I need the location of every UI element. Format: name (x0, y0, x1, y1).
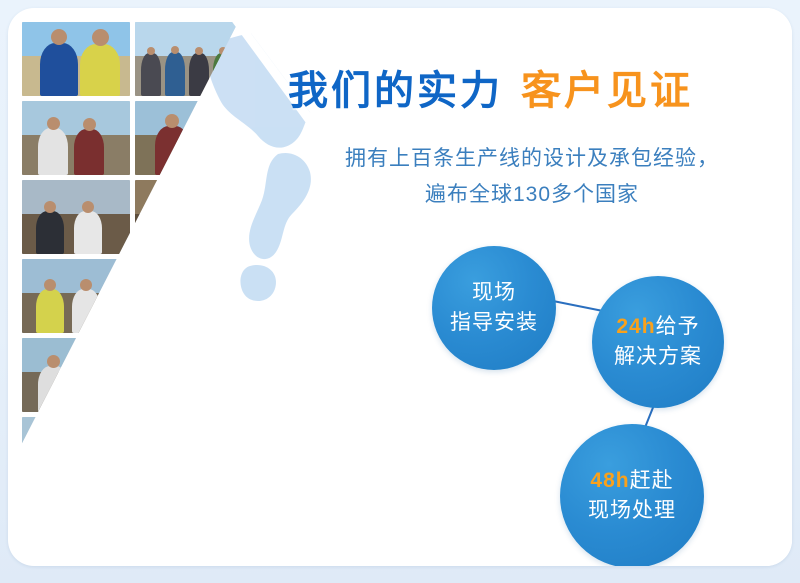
photo-person-head (85, 436, 98, 449)
photo-image (135, 417, 243, 491)
photo-sky (135, 417, 243, 451)
photo-person (375, 368, 403, 412)
photo-person (377, 445, 407, 491)
badge-2-suffix: 给予 (656, 315, 700, 338)
photo-person (80, 44, 120, 96)
photo-person (38, 447, 68, 491)
photo-person-head (51, 29, 67, 45)
photo-person-head (263, 519, 273, 529)
photo-person (415, 526, 445, 566)
photo-image (361, 496, 469, 566)
photo-ground (361, 372, 469, 412)
badge-2-number: 24h (616, 315, 655, 338)
badge-1-line-2: 指导安装 (450, 308, 538, 338)
photo-person-head (383, 358, 395, 370)
badge-3-line-1: 48h赶赴 (588, 466, 676, 496)
photo-image (22, 259, 130, 333)
badge-24h-solution-text: 24h给予 解决方案 (614, 312, 702, 372)
photo-sky (361, 496, 469, 530)
photo-person-head (83, 118, 96, 131)
photo-person-head (47, 117, 60, 130)
photo-person-head (44, 201, 56, 213)
badge-3-line-2: 现场处理 (588, 496, 676, 526)
headline-blue: 我们的实力 (288, 69, 503, 113)
collage-photo (248, 338, 356, 412)
collage-photo (248, 496, 356, 566)
photo-sky (22, 101, 130, 135)
photo-person (526, 447, 554, 491)
photo-person (482, 369, 506, 412)
photo-person (149, 368, 177, 412)
photo-person (413, 368, 441, 412)
photo-person-head (496, 516, 508, 528)
photo-image (248, 417, 356, 491)
photo-person (205, 526, 231, 566)
photo-person (74, 211, 102, 254)
badge-3-number: 48h (590, 469, 629, 492)
photo-person (415, 447, 445, 491)
photo-person (256, 448, 280, 491)
photo-person-head (181, 515, 192, 526)
photo-person (512, 366, 538, 412)
badge-1-line-1: 现场 (450, 278, 538, 308)
photo-person-head (157, 358, 169, 370)
photo-person-head (85, 357, 98, 370)
photo-person-head (82, 201, 94, 213)
photo-person-head (157, 437, 169, 449)
photo-sky (248, 496, 356, 530)
photo-person (256, 527, 280, 566)
photo-person (488, 447, 516, 491)
photo-person (318, 527, 344, 566)
photo-person (322, 371, 346, 412)
photo-ground (248, 372, 356, 412)
photo-person (260, 369, 286, 412)
photo-person-head (47, 436, 60, 449)
photo-image (361, 417, 469, 491)
photo-ground (248, 451, 356, 491)
badge-48h-dispatch[interactable]: 48h赶赴 现场处理 (560, 424, 704, 566)
badge-2-line-2: 解决方案 (614, 342, 702, 372)
photo-person-head (89, 516, 102, 529)
photo-person-head (195, 358, 207, 370)
photo-ground (248, 530, 356, 566)
photo-image (135, 496, 243, 566)
headline: 我们的实力客户见证 (288, 58, 758, 116)
photo-person-head (150, 519, 160, 529)
collage-photo (22, 417, 130, 491)
photo-sky (248, 417, 356, 451)
photo-ground (135, 451, 243, 491)
photo-person-head (386, 434, 399, 447)
photo-person (36, 211, 64, 254)
photo-person-head (263, 440, 273, 450)
photo-image (22, 180, 130, 254)
photo-ground (361, 451, 469, 491)
photo-ground (135, 530, 243, 566)
collage-photo (22, 496, 130, 566)
photo-sky (474, 417, 582, 451)
subtitle-line-2: 遍布全球130多个国家 (308, 177, 756, 213)
photo-person-head (386, 515, 399, 528)
photo-person (141, 53, 161, 96)
subtitle: 拥有上百条生产线的设计及承包经验， 遍布全球130多个国家 (308, 141, 756, 213)
badge-3-suffix: 赶赴 (630, 469, 674, 492)
photo-person-head (195, 437, 207, 449)
photo-person (526, 526, 554, 566)
photo-sky (248, 338, 356, 372)
photo-person (80, 527, 110, 566)
headline-orange: 客户见证 (521, 69, 693, 113)
photo-person-head (424, 436, 437, 449)
photo-image (135, 338, 243, 412)
collage-photo (248, 417, 356, 491)
photo-image (22, 496, 130, 566)
photo-sky (361, 417, 469, 451)
photo-image (22, 417, 130, 491)
photo-person (40, 43, 78, 96)
photo-ground (474, 372, 582, 412)
photo-person-head (47, 355, 60, 368)
collage-photo (22, 22, 130, 96)
photo-person (173, 524, 199, 566)
photo-ground (135, 372, 243, 412)
photo-image (22, 22, 130, 96)
photo-ground (22, 530, 130, 566)
badge-24h-solution[interactable]: 24h给予 解决方案 (592, 276, 724, 408)
photo-ground (361, 530, 469, 566)
photo-person (72, 289, 100, 333)
photo-person (187, 447, 215, 491)
photo-sky (22, 338, 130, 372)
photo-person-head (44, 279, 56, 291)
photo-person-head (171, 46, 179, 54)
badge-48h-dispatch-text: 48h赶赴 现场处理 (588, 466, 676, 526)
photo-person (286, 526, 312, 566)
photo-person (143, 527, 167, 566)
photo-person (38, 366, 68, 412)
photo-person-head (294, 438, 305, 449)
photo-sky (135, 496, 243, 530)
photo-person (187, 368, 215, 412)
photo-person (165, 52, 185, 96)
photo-person-head (80, 279, 92, 291)
photo-person-head (421, 358, 433, 370)
photo-ground (22, 451, 130, 491)
photo-person (76, 368, 106, 412)
collage-photo (361, 417, 469, 491)
badge-onsite-installation[interactable]: 现场 指导安装 (432, 246, 556, 370)
subtitle-line-1: 拥有上百条生产线的设计及承包经验， (308, 141, 756, 177)
content-card: 我们的实力客户见证 拥有上百条生产线的设计及承包经验， 遍布全球130多个国家 … (8, 8, 792, 566)
photo-person-head (268, 360, 279, 371)
photo-person-head (552, 359, 563, 370)
collage-photo (22, 338, 130, 412)
photo-sky (135, 338, 243, 372)
photo-person-head (496, 437, 508, 449)
photo-person-head (50, 515, 63, 528)
photo-person-head (534, 516, 546, 528)
collage-photo (135, 417, 243, 491)
photo-image (22, 101, 130, 175)
photo-person-head (326, 439, 337, 450)
photo-person (286, 447, 312, 491)
photo-image (248, 338, 356, 412)
photo-person-head (329, 363, 339, 373)
photo-image (22, 338, 130, 412)
photo-person (38, 128, 68, 175)
photo-sky (22, 259, 130, 293)
banner-stage: 我们的实力客户见证 拥有上百条生产线的设计及承包经验， 遍布全球130多个国家 … (0, 0, 800, 583)
photo-person (292, 368, 318, 412)
photo-person-head (300, 359, 311, 370)
photo-person (377, 526, 407, 566)
photo-person (76, 447, 106, 491)
collage-photo (22, 180, 130, 254)
photo-person-head (92, 29, 109, 46)
collage-photo (361, 496, 469, 566)
collage-photo (135, 338, 243, 412)
photo-sky (22, 496, 130, 530)
photo-person-head (326, 518, 337, 529)
photo-person (544, 368, 570, 412)
photo-person-head (424, 515, 437, 528)
photo-image (248, 496, 356, 566)
photo-person (36, 289, 64, 333)
photo-sky (22, 417, 130, 451)
photo-person-head (534, 437, 546, 449)
photo-person-head (294, 517, 305, 528)
photo-sky (22, 180, 130, 214)
photo-person (488, 526, 516, 566)
photo-person (149, 447, 177, 491)
photo-person (40, 526, 72, 566)
badge-onsite-installation-text: 现场 指导安装 (450, 278, 538, 338)
badge-2-line-1: 24h给予 (614, 312, 702, 342)
photo-person-head (213, 517, 224, 528)
photo-person (318, 448, 344, 491)
collage-photo (135, 496, 243, 566)
photo-ground (474, 530, 582, 566)
photo-person (74, 129, 104, 175)
collage-photo (22, 259, 130, 333)
collage-photo (22, 101, 130, 175)
